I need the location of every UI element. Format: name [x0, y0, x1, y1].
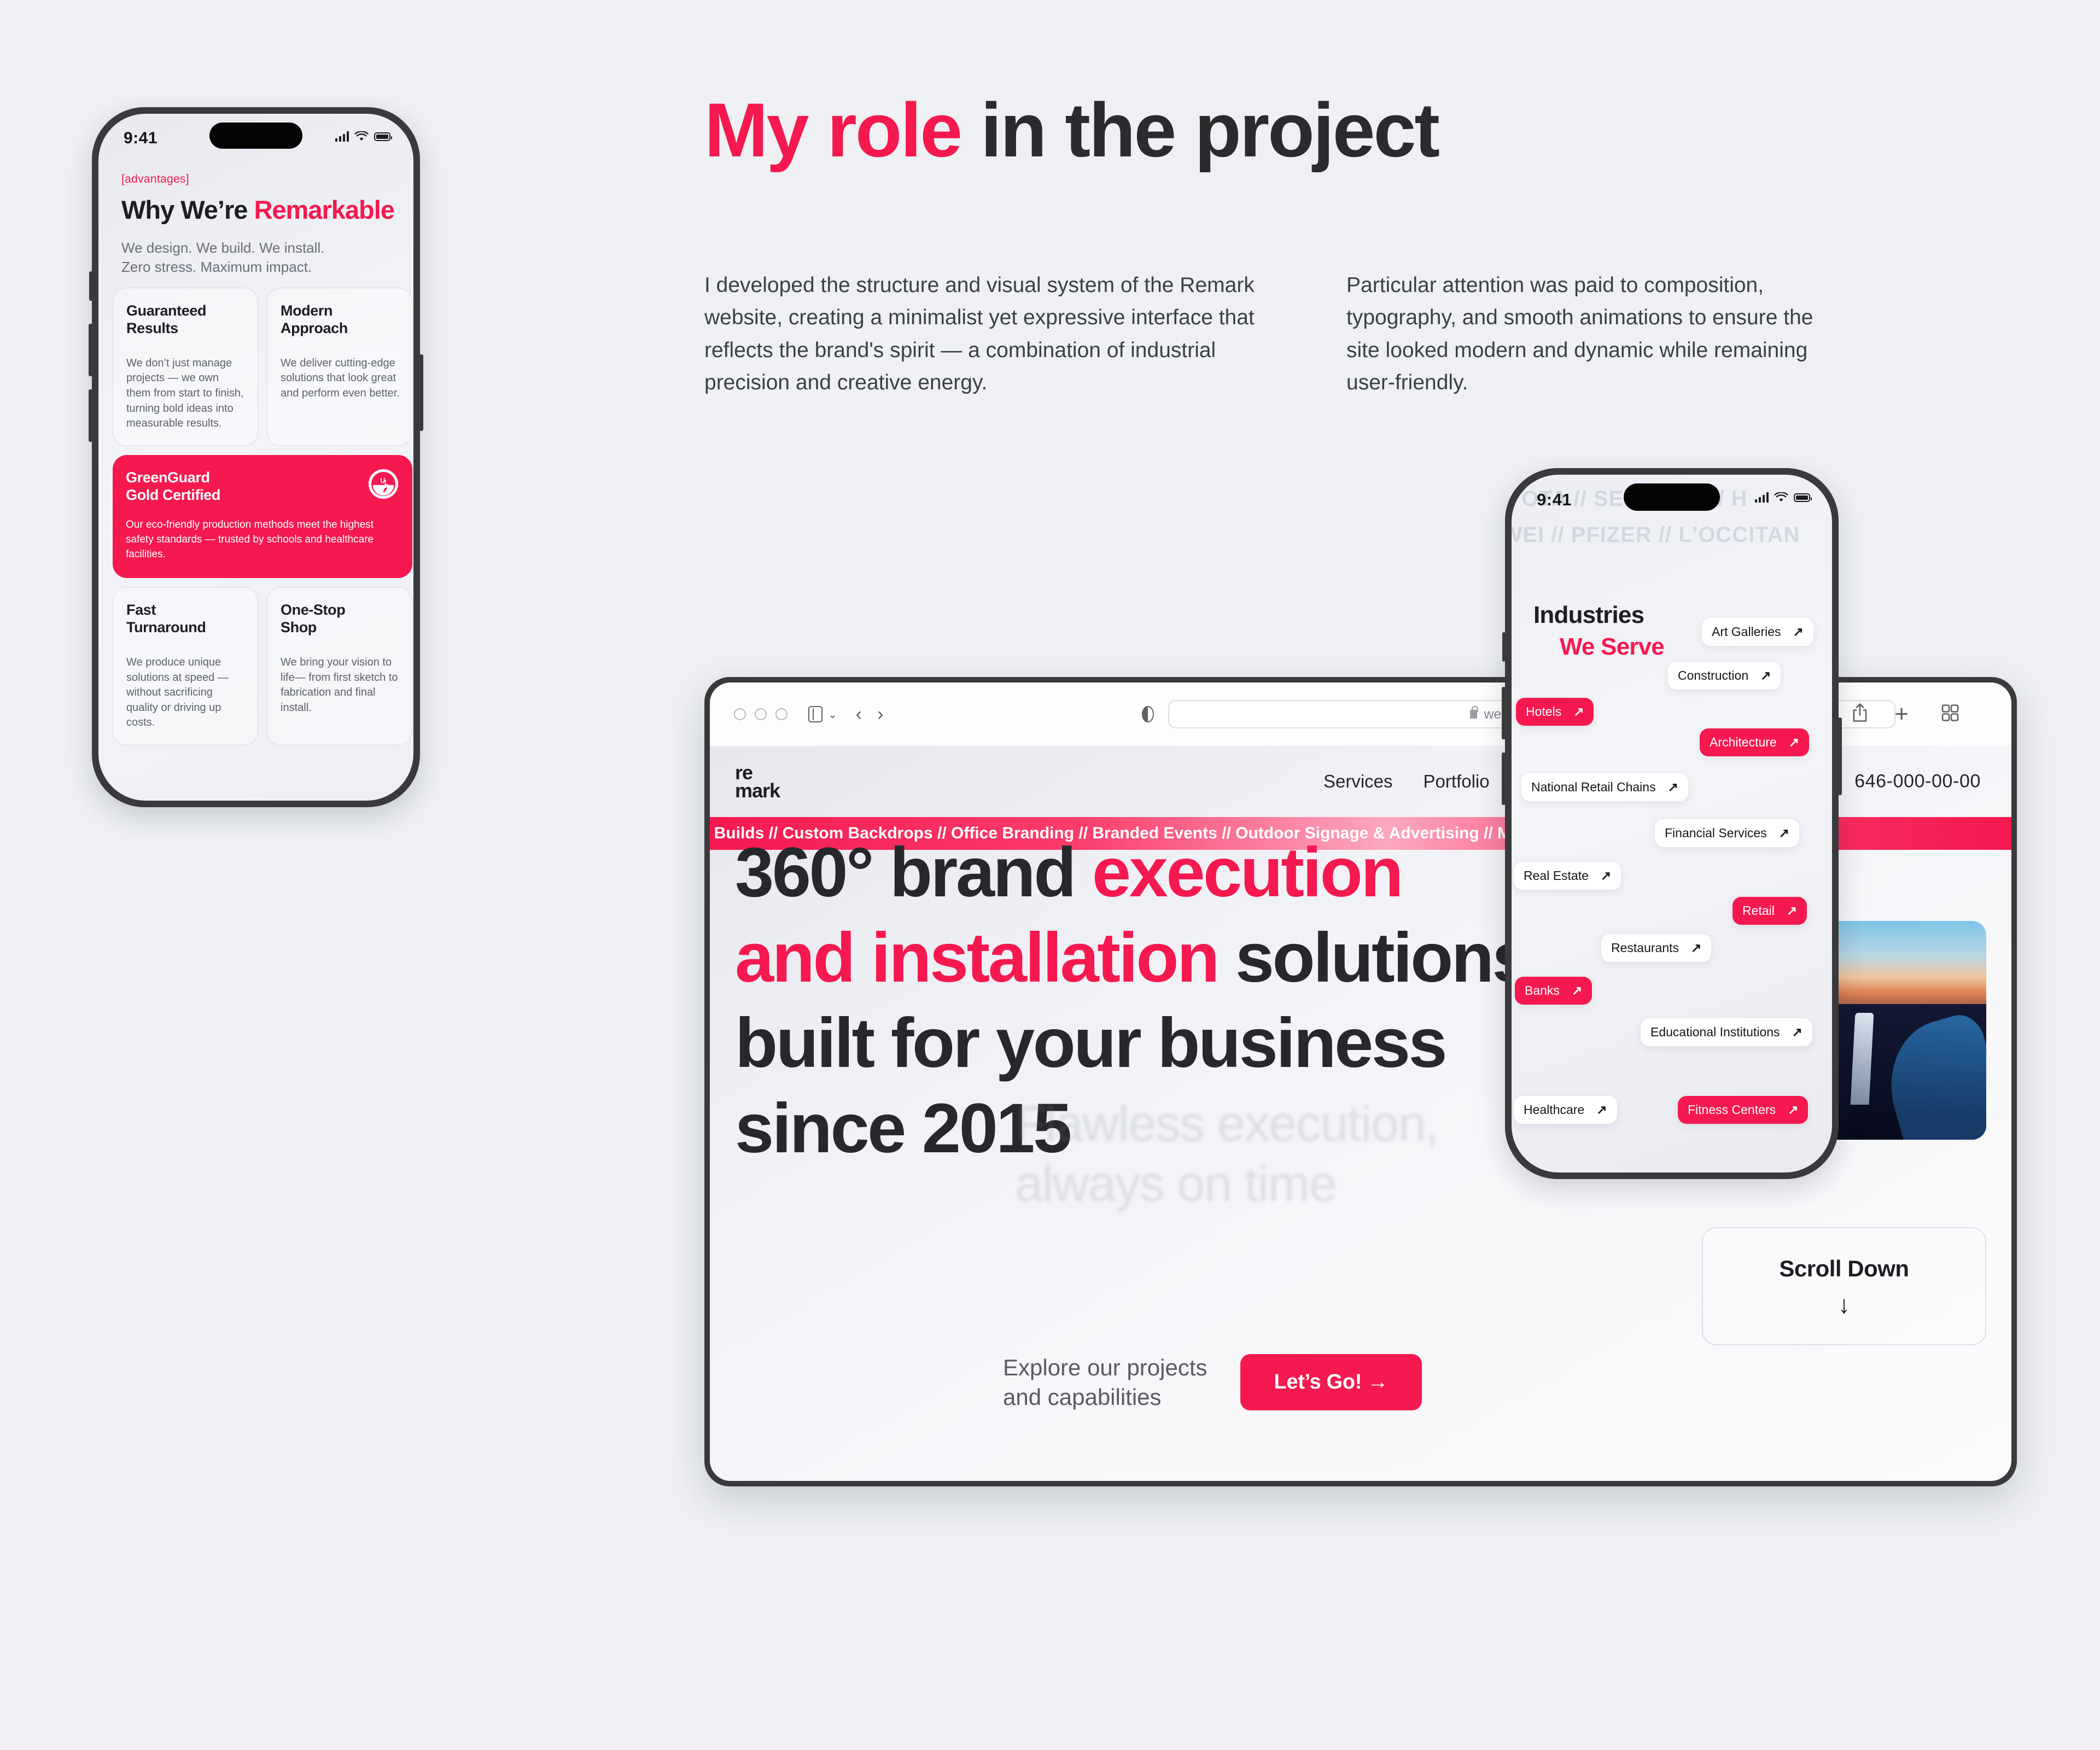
industry-pill-construction[interactable]: Construction ↗ [1668, 662, 1781, 690]
advantage-card-body: We don’t just manage projects — we own t… [126, 356, 246, 431]
phone-screen-industries: T // TOYOTA // SEPHORA // H UAWEI // PFI… [1512, 475, 1832, 1172]
forward-button[interactable]: › [877, 704, 883, 725]
arrow-up-right-icon: ↗ [1691, 942, 1701, 954]
phone-mockup-industries: T // TOYOTA // SEPHORA // H UAWEI // PFI… [1505, 468, 1839, 1179]
phone-silent-switch [89, 271, 92, 301]
industry-pill-label: Art Galleries [1712, 625, 1781, 639]
advantage-card[interactable]: Guaranteed Results We don’t just manage … [113, 288, 258, 446]
industry-pill-label: Restaurants [1611, 941, 1679, 955]
hero-line-1-accent: execution [1092, 833, 1402, 912]
hero-line-2-plain: solutions [1218, 919, 1529, 997]
industry-pill-label: Healthcare [1524, 1102, 1584, 1117]
advantages-title-plain: Why We’re [121, 195, 254, 224]
battery-icon [1794, 493, 1810, 502]
advantages-tag: [advantages] [121, 173, 189, 186]
dynamic-island [1624, 483, 1720, 511]
advantage-card[interactable]: Modern Approach We deliver cutting-edge … [267, 288, 412, 446]
arrow-down-icon: ↓ [1838, 1292, 1851, 1317]
industry-pill-financial-services[interactable]: Financial Services ↗ [1655, 819, 1799, 847]
arrow-up-right-icon: ↗ [1596, 1104, 1607, 1116]
industry-pill-label: Retail [1742, 903, 1775, 918]
phone-power-button [419, 354, 423, 431]
hero-line-2-accent: and installation [735, 919, 1218, 997]
phone-silent-switch [1502, 632, 1506, 662]
page-title: My role in the project [704, 92, 1438, 168]
industry-pill-label: Hotels [1526, 704, 1561, 719]
industry-pill-national-retail-chains[interactable]: National Retail Chains ↗ [1521, 773, 1688, 801]
industry-pill-label: Banks [1525, 983, 1560, 998]
industry-pill-fitness-centers[interactable]: Fitness Centers ↗ [1678, 1096, 1808, 1124]
advantage-card[interactable]: One-Stop Shop We bring your vision to li… [267, 587, 412, 745]
advantages-subtitle: We design. We build. We install. Zero st… [121, 238, 324, 277]
industry-pill-healthcare[interactable]: Healthcare ↗ [1514, 1096, 1617, 1124]
tab-overview-icon[interactable] [1941, 704, 1959, 725]
close-button[interactable] [734, 708, 746, 720]
industry-pill-art-galleries[interactable]: Art Galleries ↗ [1702, 618, 1813, 646]
status-bar-time: 9:41 [1537, 490, 1572, 510]
dynamic-island [209, 122, 302, 149]
industries-title-line-2: We Serve [1560, 633, 1664, 661]
lets-go-button[interactable]: Let’s Go! → [1240, 1354, 1422, 1410]
clients-marquee-line-2: UAWEI // PFIZER // L'OCCITAN [1512, 523, 1800, 547]
status-bar-icons [1755, 492, 1810, 503]
industry-pill-label: Real Estate [1524, 868, 1589, 883]
phone-volume-up-button [1502, 687, 1506, 739]
industries-title-line-1: Industries [1533, 602, 1644, 629]
advantages-title-accent: Remarkable [254, 195, 394, 224]
advantages-card-row-bottom: Fast Turnaround We produce unique soluti… [113, 587, 412, 745]
industry-pill-hotels[interactable]: Hotels ↗ [1516, 698, 1594, 726]
battery-icon [374, 132, 390, 141]
page-title-rest: in the project [961, 87, 1438, 173]
greenguard-card-body: Our eco-friendly production methods meet… [126, 518, 398, 562]
intro-paragraph-2: Particular attention was paid to composi… [1346, 269, 1828, 399]
arrow-up-right-icon: ↗ [1792, 1026, 1802, 1039]
advantage-card-body: We bring your vision to life— from first… [281, 655, 400, 715]
share-icon[interactable] [1851, 703, 1869, 726]
scroll-down-indicator[interactable]: Scroll Down ↓ [1702, 1227, 1986, 1345]
arrow-up-right-icon: ↗ [1573, 705, 1584, 718]
arrow-up-right-icon: ↗ [1788, 1104, 1798, 1116]
intro-paragraph-1: I developed the structure and visual sys… [704, 269, 1284, 399]
site-logo-line-2: mark [735, 781, 780, 800]
industry-pill-label: Construction [1678, 668, 1748, 683]
hero-line-3: built for your business [735, 1004, 1445, 1082]
nav-item-portfolio[interactable]: Portfolio [1424, 771, 1490, 792]
advantages-title: Why We’re Remarkable [121, 195, 394, 225]
minimize-button[interactable] [755, 708, 767, 720]
site-phone-number[interactable]: 646-000-00-00 [1854, 771, 1981, 792]
nav-item-services[interactable]: Services [1323, 771, 1393, 792]
advantage-card-body: We deliver cutting-edge solutions that l… [281, 356, 400, 401]
cellular-bars-icon [1755, 492, 1769, 503]
lock-icon [1470, 710, 1477, 719]
svg-text:L: L [384, 479, 389, 487]
advantage-card[interactable]: Fast Turnaround We produce unique soluti… [113, 587, 258, 745]
arrow-up-right-icon: ↗ [1789, 736, 1799, 749]
advantage-card-title: One-Stop Shop [281, 602, 400, 637]
wifi-icon [354, 131, 369, 142]
phone-volume-up-button [89, 324, 92, 376]
scroll-down-label: Scroll Down [1779, 1256, 1909, 1282]
arrow-up-right-icon: ↗ [1760, 669, 1771, 682]
arrow-up-right-icon: ↗ [1793, 626, 1804, 638]
advantages-card-row-top: Guaranteed Results We don’t just manage … [113, 288, 412, 446]
chevron-down-icon[interactable]: ⌄ [828, 708, 837, 721]
industry-pill-restaurants[interactable]: Restaurants ↗ [1601, 934, 1711, 962]
back-button[interactable]: ‹ [856, 704, 862, 725]
zoom-button[interactable] [775, 708, 787, 720]
industry-pill-label: Educational Institutions [1650, 1025, 1780, 1040]
arrow-up-right-icon: ↗ [1668, 781, 1678, 794]
sidebar-toggle-icon[interactable] [808, 706, 822, 722]
site-logo[interactable]: re mark [735, 763, 780, 800]
cellular-bars-icon [335, 131, 349, 142]
arrow-up-right-icon: ↗ [1787, 905, 1797, 917]
phone-volume-down-button [1502, 752, 1506, 805]
industry-pill-label: Financial Services [1665, 826, 1767, 841]
phone-screen-advantages: 9:41 [advantages] Why We’re Remarkable W… [98, 114, 413, 801]
advantage-card-title: Fast Turnaround [126, 602, 246, 637]
window-traffic-lights[interactable] [734, 708, 787, 720]
hero-cta-group: Explore our projects and capabilities Le… [1003, 1353, 1422, 1412]
industry-pill-banks[interactable]: Banks ↗ [1515, 977, 1592, 1005]
page-title-accent: My role [704, 87, 961, 173]
hero-cta-text: Explore our projects and capabilities [1003, 1353, 1207, 1412]
hero-ghost-text: Flawless execution, always on time [1015, 1094, 1438, 1215]
advantage-card-body: We produce unique solutions at speed — w… [126, 655, 246, 731]
advantage-card-title: Guaranteed Results [126, 302, 246, 337]
industry-pill-label: Fitness Centers [1688, 1102, 1776, 1117]
greenguard-certification-card[interactable]: GreenGuard Gold Certified Our eco-friend… [113, 455, 412, 579]
arrow-up-right-icon: ↗ [1779, 827, 1789, 839]
industry-pill-retail[interactable]: Retail ↗ [1732, 897, 1807, 925]
ul-greenguard-badge-icon: U L [369, 469, 398, 499]
industry-pill-label: National Retail Chains [1531, 780, 1656, 795]
advantages-card-grid: Guaranteed Results We don’t just manage … [113, 288, 412, 745]
arrow-up-right-icon: ↗ [1572, 984, 1582, 997]
status-bar-icons [335, 131, 390, 142]
industry-pill-educational-institutions[interactable]: Educational Institutions ↗ [1641, 1018, 1812, 1046]
industry-pill-architecture[interactable]: Architecture ↗ [1700, 728, 1809, 756]
industry-pill-label: Architecture [1710, 735, 1777, 750]
arrow-up-right-icon: ↗ [1601, 870, 1611, 882]
phone-mockup-advantages: 9:41 [advantages] Why We’re Remarkable W… [92, 107, 420, 807]
phone-volume-down-button [89, 389, 92, 442]
phone-power-button [1838, 717, 1842, 795]
industry-pill-real-estate[interactable]: Real Estate ↗ [1514, 862, 1621, 890]
hero-line-1-plain: 360° brand [735, 833, 1092, 912]
wifi-icon [1774, 492, 1788, 503]
advantage-card-title: Modern Approach [281, 302, 400, 337]
reader-view-icon[interactable] [1142, 706, 1154, 722]
status-bar-time: 9:41 [124, 129, 157, 148]
greenguard-card-title: GreenGuard Gold Certified [126, 469, 398, 504]
